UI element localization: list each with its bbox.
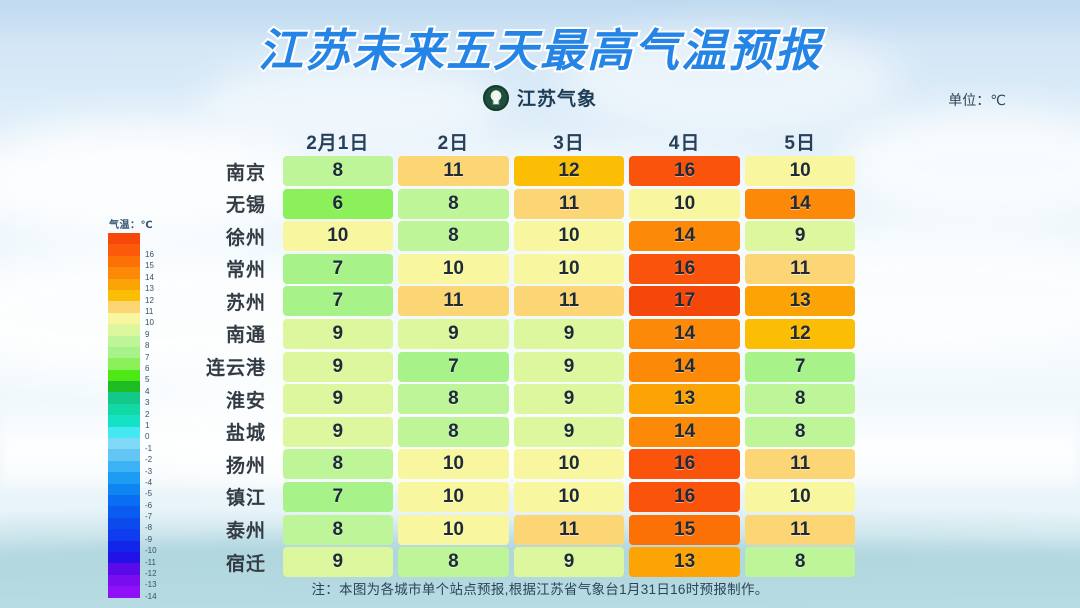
row-header-city: 常州 bbox=[186, 254, 280, 284]
legend-tick-label: -11 bbox=[145, 559, 156, 567]
legend-swatch bbox=[108, 279, 140, 290]
column-header: 4日 bbox=[627, 128, 743, 155]
row-header-city: 淮安 bbox=[186, 384, 280, 414]
temperature-cell: 8 bbox=[283, 156, 394, 186]
temperature-cell: 11 bbox=[514, 286, 625, 316]
temperature-cell-wrap: 9 bbox=[742, 221, 858, 251]
temperature-cell-wrap: 8 bbox=[396, 189, 512, 219]
table-row: 扬州810101611 bbox=[186, 449, 858, 479]
temperature-cell: 10 bbox=[398, 482, 509, 512]
temperature-cell-wrap: 8 bbox=[396, 417, 512, 447]
temperature-cell-wrap: 13 bbox=[627, 547, 743, 577]
temperature-cell: 14 bbox=[629, 352, 740, 382]
temperature-cell: 11 bbox=[398, 156, 509, 186]
legend-row: -4 bbox=[108, 472, 170, 483]
temperature-cell: 9 bbox=[283, 352, 394, 382]
legend-swatch bbox=[108, 449, 140, 460]
temperature-cell: 10 bbox=[514, 449, 625, 479]
table-row: 南通9991412 bbox=[186, 319, 858, 349]
temperature-cell: 10 bbox=[283, 221, 394, 251]
temperature-cell: 12 bbox=[745, 319, 856, 349]
temperature-cell: 10 bbox=[745, 156, 856, 186]
legend-swatch bbox=[108, 336, 140, 347]
temperature-cell: 11 bbox=[514, 515, 625, 545]
temperature-cell: 9 bbox=[283, 547, 394, 577]
legend-swatch bbox=[108, 256, 140, 267]
temperature-cell: 7 bbox=[283, 254, 394, 284]
temperature-cell-wrap: 16 bbox=[627, 156, 743, 186]
column-header: 2月1日 bbox=[280, 128, 396, 155]
legend-tick-label: 9 bbox=[145, 331, 149, 339]
legend-swatch bbox=[108, 267, 140, 278]
brand-logo-label: 江苏气象 bbox=[517, 84, 597, 111]
legend-tick-label: 0 bbox=[145, 433, 149, 441]
column-header: 2日 bbox=[396, 128, 512, 155]
legend-row: 5 bbox=[108, 370, 170, 381]
temperature-cell: 8 bbox=[745, 417, 856, 447]
legend-tick-label: 15 bbox=[145, 262, 154, 270]
legend-swatch bbox=[108, 381, 140, 392]
legend-tick-label: 12 bbox=[145, 297, 154, 305]
temperature-cell-wrap: 10 bbox=[511, 254, 627, 284]
temperature-cell-wrap: 10 bbox=[280, 221, 396, 251]
temperature-cell-wrap: 17 bbox=[627, 286, 743, 316]
legend-row: -7 bbox=[108, 506, 170, 517]
temperature-cell-wrap: 8 bbox=[742, 417, 858, 447]
legend-row: 1 bbox=[108, 415, 170, 426]
legend-tick-label: 13 bbox=[145, 285, 154, 293]
legend-row: 3 bbox=[108, 392, 170, 403]
legend-swatch bbox=[108, 506, 140, 517]
temperature-cell: 9 bbox=[514, 384, 625, 414]
temperature-cell-wrap: 6 bbox=[280, 189, 396, 219]
table-row: 镇江710101610 bbox=[186, 482, 858, 512]
legend-swatch bbox=[108, 301, 140, 312]
legend-tick-label: 16 bbox=[145, 251, 154, 259]
temperature-cell: 6 bbox=[283, 189, 394, 219]
legend-swatch bbox=[108, 415, 140, 426]
temperature-cell-wrap: 8 bbox=[396, 384, 512, 414]
temperature-cell: 7 bbox=[283, 482, 394, 512]
temperature-cell-wrap: 10 bbox=[511, 449, 627, 479]
legend-tick-label: -4 bbox=[145, 479, 152, 487]
temperature-cell-wrap: 9 bbox=[511, 417, 627, 447]
temperature-cell: 13 bbox=[629, 384, 740, 414]
temperature-cell-wrap: 10 bbox=[742, 482, 858, 512]
temperature-cell: 14 bbox=[629, 319, 740, 349]
temperature-cell: 8 bbox=[398, 547, 509, 577]
legend-row: -3 bbox=[108, 461, 170, 472]
temperature-cell-wrap: 16 bbox=[627, 449, 743, 479]
column-header: 3日 bbox=[511, 128, 627, 155]
legend-row: -8 bbox=[108, 518, 170, 529]
table-row: 徐州10810149 bbox=[186, 221, 858, 251]
temperature-cell: 10 bbox=[745, 482, 856, 512]
legend-swatch bbox=[108, 370, 140, 381]
legend-row: 12 bbox=[108, 290, 170, 301]
legend-tick-label: -3 bbox=[145, 468, 152, 476]
temperature-cell-wrap: 10 bbox=[627, 189, 743, 219]
legend-tick-label: 7 bbox=[145, 354, 149, 362]
temperature-cell-wrap: 14 bbox=[742, 189, 858, 219]
temperature-cell: 8 bbox=[283, 515, 394, 545]
temperature-cell: 10 bbox=[514, 254, 625, 284]
temperature-cell: 8 bbox=[398, 221, 509, 251]
temperature-cell-wrap: 15 bbox=[627, 515, 743, 545]
legend-tick-label: -7 bbox=[145, 513, 152, 521]
legend-tick-label: -6 bbox=[145, 502, 152, 510]
temperature-cell-wrap: 8 bbox=[280, 449, 396, 479]
temperature-cell: 9 bbox=[514, 319, 625, 349]
temperature-cell: 9 bbox=[514, 417, 625, 447]
legend-swatch bbox=[108, 347, 140, 358]
row-header-city: 宿迁 bbox=[186, 547, 280, 577]
temperature-cell: 9 bbox=[283, 417, 394, 447]
temperature-cell-wrap: 11 bbox=[742, 254, 858, 284]
temperature-cell-wrap: 12 bbox=[742, 319, 858, 349]
legend-row: -1 bbox=[108, 438, 170, 449]
legend-row: -11 bbox=[108, 552, 170, 563]
temperature-cell-wrap: 8 bbox=[280, 156, 396, 186]
temperature-cell-wrap: 9 bbox=[280, 417, 396, 447]
temperature-cell-wrap: 11 bbox=[511, 515, 627, 545]
temperature-cell-wrap: 11 bbox=[396, 156, 512, 186]
legend-tick-label: -2 bbox=[145, 456, 152, 464]
table-row: 盐城989148 bbox=[186, 417, 858, 447]
temperature-cell-wrap: 10 bbox=[511, 221, 627, 251]
temperature-cell: 13 bbox=[629, 547, 740, 577]
legend-row: -9 bbox=[108, 529, 170, 540]
legend-swatch bbox=[108, 461, 140, 472]
infographic-canvas: 江苏未来五天最高气温预报 江苏气象 单位：℃ 气温：℃ 161514131211… bbox=[0, 0, 1080, 608]
temperature-cell: 12 bbox=[514, 156, 625, 186]
temperature-cell: 8 bbox=[283, 449, 394, 479]
row-header-city: 镇江 bbox=[186, 482, 280, 512]
temperature-cell-wrap: 10 bbox=[396, 482, 512, 512]
temperature-legend: 气温：℃ 161514131211109876543210-1-2-3-4-5-… bbox=[108, 216, 170, 598]
temperature-cell-wrap: 16 bbox=[627, 482, 743, 512]
legend-swatch bbox=[108, 290, 140, 301]
legend-row: 7 bbox=[108, 347, 170, 358]
legend-tick-label: 1 bbox=[145, 422, 149, 430]
temperature-cell: 7 bbox=[283, 286, 394, 316]
table-row: 南京811121610 bbox=[186, 156, 858, 186]
table-row: 无锡68111014 bbox=[186, 189, 858, 219]
temperature-cell: 14 bbox=[629, 417, 740, 447]
temperature-cell-wrap: 9 bbox=[280, 352, 396, 382]
legend-row: -10 bbox=[108, 541, 170, 552]
temperature-cell: 9 bbox=[514, 547, 625, 577]
temperature-cell: 9 bbox=[283, 384, 394, 414]
temperature-cell-wrap: 14 bbox=[627, 352, 743, 382]
unit-label: 单位：℃ bbox=[948, 90, 1006, 110]
legend-row: 6 bbox=[108, 358, 170, 369]
temperature-cell-wrap: 9 bbox=[280, 319, 396, 349]
temperature-cell: 10 bbox=[398, 515, 509, 545]
temperature-cell-wrap: 8 bbox=[742, 384, 858, 414]
temperature-cell: 8 bbox=[745, 547, 856, 577]
temperature-cell: 8 bbox=[398, 189, 509, 219]
legend-tick-label: 14 bbox=[145, 274, 154, 282]
table-header-row: 2月1日 2日 3日 4日 5日 bbox=[186, 126, 858, 156]
temperature-cell-wrap: 9 bbox=[511, 547, 627, 577]
legend-swatch bbox=[108, 358, 140, 369]
temperature-cell-wrap: 7 bbox=[742, 352, 858, 382]
temperature-cell: 11 bbox=[745, 449, 856, 479]
temperature-cell: 7 bbox=[398, 352, 509, 382]
legend-swatch bbox=[108, 438, 140, 449]
row-header-city: 连云港 bbox=[186, 352, 280, 382]
temperature-cell-wrap: 10 bbox=[396, 254, 512, 284]
temperature-cell: 10 bbox=[629, 189, 740, 219]
temperature-cell: 16 bbox=[629, 482, 740, 512]
temperature-cell: 13 bbox=[745, 286, 856, 316]
footnote: 注：本图为各城市单个站点预报,根据江苏省气象台1月31日16时预报制作。 bbox=[0, 578, 1080, 598]
row-header-city: 徐州 bbox=[186, 221, 280, 251]
legend-row: 15 bbox=[108, 256, 170, 267]
temperature-cell: 16 bbox=[629, 156, 740, 186]
table-row: 苏州711111713 bbox=[186, 286, 858, 316]
legend-swatch bbox=[108, 404, 140, 415]
temperature-cell: 11 bbox=[745, 254, 856, 284]
legend-swatch bbox=[108, 427, 140, 438]
legend-swatch bbox=[108, 233, 140, 244]
temperature-cell: 9 bbox=[283, 319, 394, 349]
temperature-cell-wrap: 14 bbox=[627, 417, 743, 447]
legend-row: 16 bbox=[108, 244, 170, 255]
column-header: 5日 bbox=[742, 128, 858, 155]
temperature-cell-wrap: 9 bbox=[396, 319, 512, 349]
legend-swatch bbox=[108, 313, 140, 324]
temperature-cell-wrap: 7 bbox=[280, 286, 396, 316]
temperature-cell: 11 bbox=[398, 286, 509, 316]
temperature-cell: 10 bbox=[514, 221, 625, 251]
legend-row: 10 bbox=[108, 313, 170, 324]
temperature-cell: 11 bbox=[514, 189, 625, 219]
legend-tick-label: 3 bbox=[145, 399, 149, 407]
temperature-cell-wrap: 11 bbox=[511, 286, 627, 316]
legend-tick-label: 4 bbox=[145, 388, 149, 396]
temperature-cell: 8 bbox=[745, 384, 856, 414]
legend-tick-label: 11 bbox=[145, 308, 153, 316]
legend-swatch bbox=[108, 495, 140, 506]
temperature-cell-wrap: 14 bbox=[627, 221, 743, 251]
legend-swatch bbox=[108, 392, 140, 403]
row-header-city: 南通 bbox=[186, 319, 280, 349]
legend-row: -12 bbox=[108, 563, 170, 574]
temperature-cell-wrap: 10 bbox=[742, 156, 858, 186]
temperature-cell: 7 bbox=[745, 352, 856, 382]
forecast-table: 2月1日 2日 3日 4日 5日 南京811121610无锡68111014徐州… bbox=[186, 126, 858, 577]
temperature-cell: 14 bbox=[745, 189, 856, 219]
temperature-cell-wrap: 14 bbox=[627, 319, 743, 349]
legend-swatch bbox=[108, 552, 140, 563]
legend-tick-label: -8 bbox=[145, 524, 152, 532]
temperature-cell: 11 bbox=[745, 515, 856, 545]
legend-swatch bbox=[108, 541, 140, 552]
temperature-cell-wrap: 10 bbox=[396, 449, 512, 479]
temperature-cell: 14 bbox=[629, 221, 740, 251]
table-row: 宿迁989138 bbox=[186, 547, 858, 577]
legend-row: 2 bbox=[108, 404, 170, 415]
temperature-cell: 10 bbox=[398, 449, 509, 479]
legend-swatch bbox=[108, 324, 140, 335]
temperature-cell-wrap: 12 bbox=[511, 156, 627, 186]
legend-tick-label: -9 bbox=[145, 536, 152, 544]
legend-tick-label: 10 bbox=[145, 319, 154, 327]
temperature-cell: 16 bbox=[629, 449, 740, 479]
legend-swatch bbox=[108, 529, 140, 540]
row-header-city: 苏州 bbox=[186, 286, 280, 316]
temperature-cell-wrap: 9 bbox=[511, 384, 627, 414]
temperature-cell-wrap: 9 bbox=[280, 547, 396, 577]
temperature-cell-wrap: 10 bbox=[396, 515, 512, 545]
row-header-city: 南京 bbox=[186, 156, 280, 186]
legend-row: 13 bbox=[108, 279, 170, 290]
legend-tick-label: 6 bbox=[145, 365, 149, 373]
legend-scale: 161514131211109876543210-1-2-3-4-5-6-7-8… bbox=[108, 233, 170, 598]
temperature-cell-wrap: 16 bbox=[627, 254, 743, 284]
legend-tick-label: -1 bbox=[145, 445, 152, 453]
legend-tick-label: -5 bbox=[145, 490, 152, 498]
table-row: 连云港979147 bbox=[186, 352, 858, 382]
temperature-cell-wrap: 11 bbox=[396, 286, 512, 316]
table-row: 淮安989138 bbox=[186, 384, 858, 414]
temperature-cell: 9 bbox=[514, 352, 625, 382]
temperature-cell-wrap: 8 bbox=[280, 515, 396, 545]
legend-row: 9 bbox=[108, 324, 170, 335]
legend-swatch bbox=[108, 484, 140, 495]
temperature-cell-wrap: 8 bbox=[396, 547, 512, 577]
weather-bureau-emblem-icon bbox=[483, 85, 509, 111]
brand-logo: 江苏气象 bbox=[0, 84, 1080, 111]
legend-tick-label: 5 bbox=[145, 376, 149, 384]
temperature-cell: 10 bbox=[514, 482, 625, 512]
temperature-cell: 16 bbox=[629, 254, 740, 284]
legend-tick-label: -12 bbox=[145, 570, 157, 578]
legend-row: 8 bbox=[108, 336, 170, 347]
temperature-cell-wrap: 11 bbox=[511, 189, 627, 219]
row-header-city: 泰州 bbox=[186, 515, 280, 545]
temperature-cell-wrap: 9 bbox=[280, 384, 396, 414]
row-header-city: 盐城 bbox=[186, 417, 280, 447]
legend-tick-label: 2 bbox=[145, 411, 149, 419]
legend-row: -6 bbox=[108, 495, 170, 506]
temperature-cell: 10 bbox=[398, 254, 509, 284]
temperature-cell: 8 bbox=[398, 417, 509, 447]
legend-row: 0 bbox=[108, 427, 170, 438]
legend-tick-label: 8 bbox=[145, 342, 149, 350]
legend-row: -2 bbox=[108, 449, 170, 460]
legend-row: 14 bbox=[108, 267, 170, 278]
table-row: 泰州810111511 bbox=[186, 515, 858, 545]
legend-row: -5 bbox=[108, 484, 170, 495]
row-header-city: 无锡 bbox=[186, 189, 280, 219]
temperature-cell-wrap: 13 bbox=[627, 384, 743, 414]
page-title: 江苏未来五天最高气温预报 bbox=[0, 14, 1080, 79]
legend-swatch bbox=[108, 244, 140, 255]
legend-swatch bbox=[108, 518, 140, 529]
temperature-cell: 8 bbox=[398, 384, 509, 414]
temperature-cell-wrap: 10 bbox=[511, 482, 627, 512]
legend-row: 11 bbox=[108, 301, 170, 312]
temperature-cell-wrap: 9 bbox=[511, 352, 627, 382]
temperature-cell-wrap: 8 bbox=[742, 547, 858, 577]
temperature-cell: 17 bbox=[629, 286, 740, 316]
temperature-cell: 15 bbox=[629, 515, 740, 545]
temperature-cell-wrap: 7 bbox=[396, 352, 512, 382]
temperature-cell-wrap: 11 bbox=[742, 515, 858, 545]
temperature-cell-wrap: 11 bbox=[742, 449, 858, 479]
table-row: 常州710101611 bbox=[186, 254, 858, 284]
temperature-cell-wrap: 13 bbox=[742, 286, 858, 316]
legend-row: 4 bbox=[108, 381, 170, 392]
temperature-cell: 9 bbox=[745, 221, 856, 251]
temperature-cell-wrap: 7 bbox=[280, 254, 396, 284]
temperature-cell-wrap: 8 bbox=[396, 221, 512, 251]
legend-row bbox=[108, 233, 170, 244]
legend-title: 气温：℃ bbox=[109, 216, 170, 231]
table-body: 南京811121610无锡68111014徐州10810149常州7101016… bbox=[186, 156, 858, 577]
legend-tick-label: -10 bbox=[145, 547, 157, 555]
temperature-cell-wrap: 7 bbox=[280, 482, 396, 512]
legend-swatch bbox=[108, 563, 140, 574]
temperature-cell-wrap: 9 bbox=[511, 319, 627, 349]
row-header-city: 扬州 bbox=[186, 449, 280, 479]
temperature-cell: 9 bbox=[398, 319, 509, 349]
legend-swatch bbox=[108, 472, 140, 483]
